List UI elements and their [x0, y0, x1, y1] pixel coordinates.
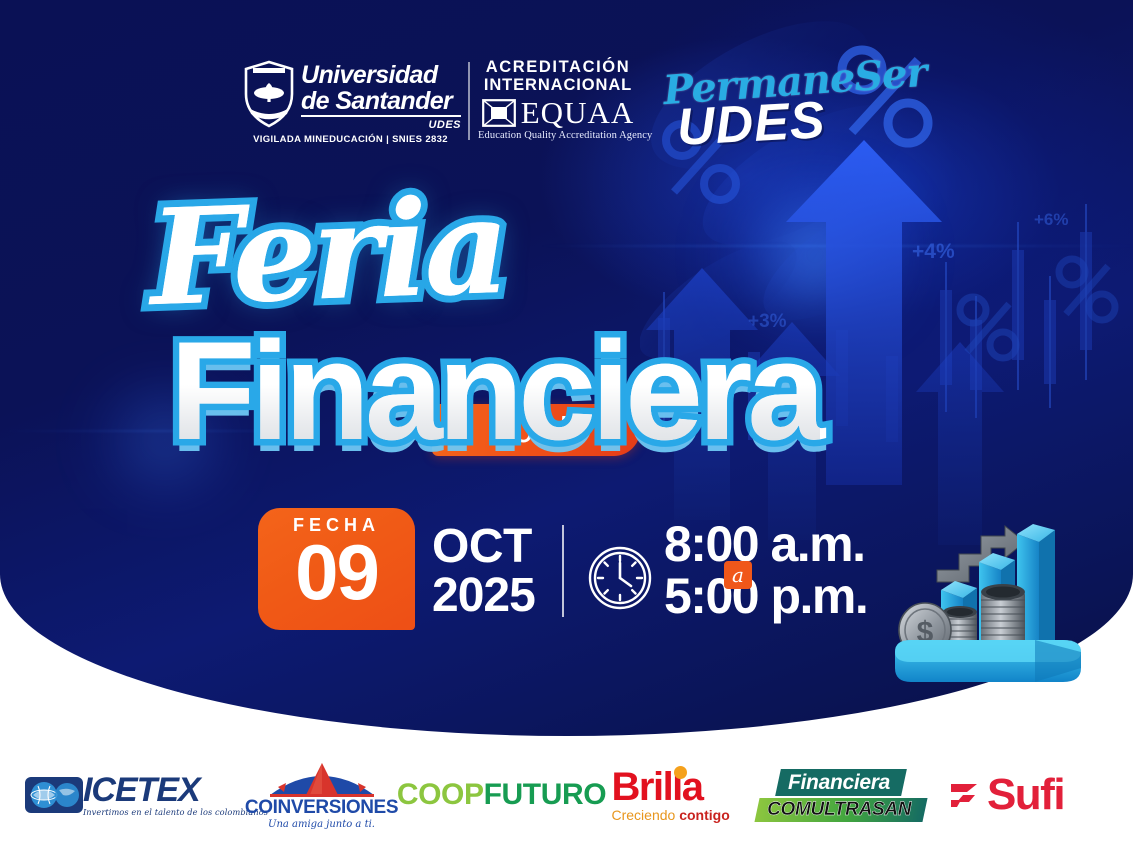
- sponsor-strip: ICETEX Invertimos en el talento de los c…: [0, 752, 1133, 838]
- logo-universidad-de-santander: Universidad de Santander UDES: [243, 60, 458, 164]
- sponsor-sufi[interactable]: Sufi: [922, 760, 1092, 830]
- udes-line-1: Universidad: [301, 62, 461, 88]
- header-divider: [468, 62, 470, 140]
- brilla-dot-icon: [674, 766, 687, 779]
- details-divider: [562, 525, 564, 617]
- poster-title: Feria Feria 2025 Financiera Financiera F…: [0, 178, 1133, 468]
- growth-chart-svg: $: [885, 492, 1110, 692]
- time-accent-badge: a: [724, 561, 752, 589]
- comultrasan-wordmark-top: Financiera: [788, 770, 890, 795]
- udes-acronym: UDES: [301, 119, 461, 131]
- sponsor-icetex[interactable]: ICETEX Invertimos en el talento de los c…: [42, 760, 252, 830]
- brilla-tagline-light: Creciendo: [612, 807, 680, 823]
- udes-wordmark: Universidad de Santander UDES: [301, 62, 461, 131]
- equaa-tagline: Education Quality Accreditation Agency: [478, 130, 638, 141]
- time-end: 5:00 p.m.: [664, 570, 867, 622]
- date-card: FECHA 09: [258, 508, 415, 630]
- sponsor-coopfuturo[interactable]: COOPFUTURO: [392, 760, 612, 830]
- date-month-year: OCT 2025: [432, 522, 535, 620]
- udes-line-2: de Santander: [301, 88, 461, 117]
- coinversiones-tagline: Una amiga junto a ti.: [268, 819, 375, 830]
- coopfuturo-wordmark-part1: COOP: [397, 778, 484, 811]
- permaneser-udes-acronym: UDES: [676, 94, 827, 154]
- equaa-line-2: INTERNACIONAL: [478, 76, 638, 94]
- sponsor-brilla[interactable]: Brilla Creciendo contigo: [612, 760, 762, 830]
- header-logos: Universidad de Santander UDES VIGILADA M…: [0, 52, 1133, 164]
- clock-icon: [588, 546, 652, 610]
- growth-chart-illustration: $: [885, 492, 1110, 692]
- brilla-tagline-bold: contigo: [679, 807, 730, 823]
- sufi-wordmark: Sufi: [987, 773, 1064, 817]
- logo-permaneser-udes: PermaneSer UDES: [655, 54, 895, 164]
- title-financiera: Financiera: [170, 316, 820, 466]
- event-time: 8:00 a.m. 5:00 p.m. a: [664, 518, 867, 622]
- sponsor-financiera-comultrasan[interactable]: Financiera COMULTRASAN: [762, 760, 922, 830]
- date-month: OCT: [432, 522, 535, 571]
- equaa-wordmark: EQUAA: [521, 97, 635, 128]
- date-year: 2025: [432, 571, 535, 620]
- icetex-globe-icon: [25, 775, 83, 815]
- coinversiones-wordmark: COINVERSIONES: [245, 798, 398, 817]
- icetex-tagline: Invertimos en el talento de los colombia…: [83, 807, 268, 817]
- icetex-wordmark: ICETEX: [83, 774, 200, 806]
- title-feria: Feria: [147, 172, 508, 334]
- equaa-envelope-icon: [482, 99, 516, 127]
- coopfuturo-wordmark-part2: FUTURO: [484, 778, 607, 811]
- sponsor-coinversiones[interactable]: COINVERSIONES Una amiga junto a ti.: [252, 760, 392, 830]
- sufi-arrow-icon: [949, 780, 983, 810]
- date-day: 09: [295, 532, 378, 612]
- logo-equaa-accreditation: ACREDITACIÓN INTERNACIONAL EQUAA Educati…: [478, 58, 638, 141]
- equaa-line-1: ACREDITACIÓN: [478, 58, 638, 76]
- poster-canvas: +4% +3% +6% Universidad de Santander U: [0, 0, 1133, 850]
- udes-legal-text: VIGILADA MINEDUCACIÓN | SNIES 2832: [243, 134, 458, 145]
- coinversiones-arc-icon: [266, 761, 378, 797]
- udes-shield-icon: [243, 60, 295, 128]
- time-start: 8:00 a.m.: [664, 518, 867, 570]
- brilla-wordmark: Brilla: [612, 765, 703, 809]
- comultrasan-wordmark-bottom: COMULTRASAN: [768, 799, 912, 820]
